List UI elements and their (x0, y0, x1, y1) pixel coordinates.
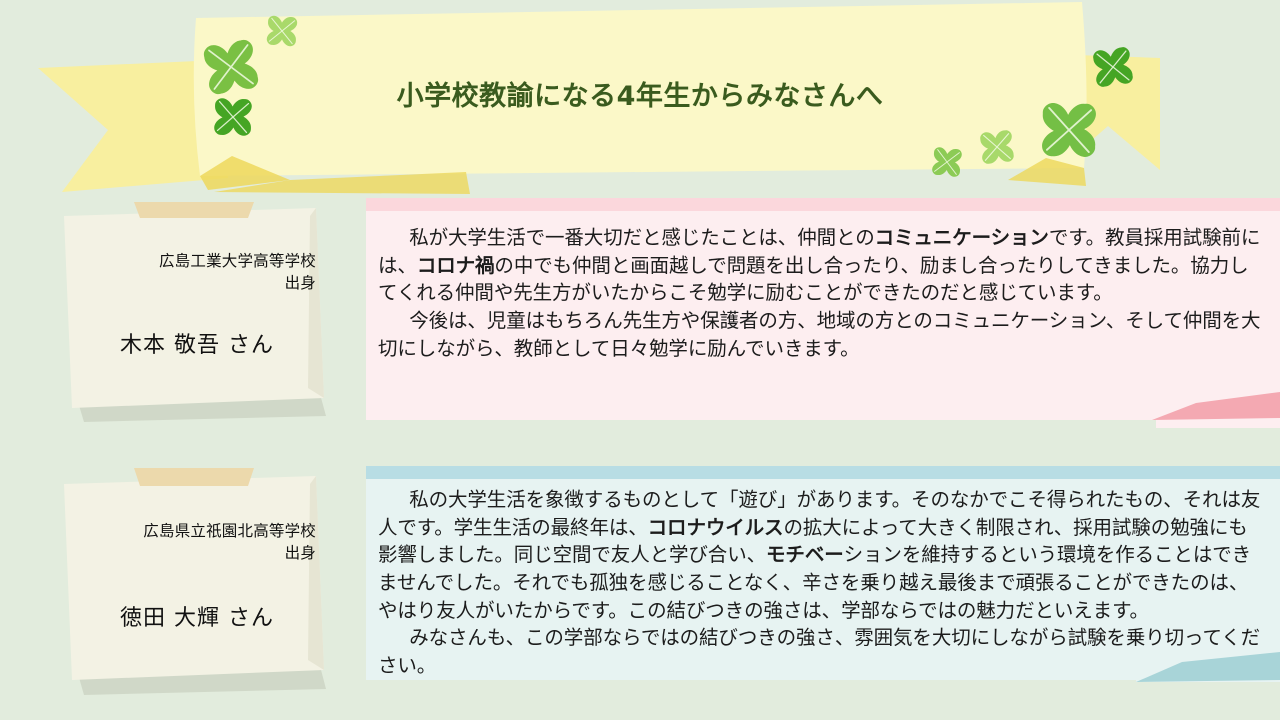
body-text: 今後は、児童はもちろん先生方や保護者の方、地域の方とのコミュニケーション、そして… (378, 309, 1260, 360)
school-name-line-1: 広島工業大学高等学校 (78, 250, 316, 272)
note-paper-curl-2 (308, 476, 324, 670)
four-leaf-clover-icon (1025, 86, 1113, 174)
clover-glyph (970, 120, 1023, 173)
clover-glyph (202, 86, 264, 148)
sticky-note-shape-1 (58, 202, 334, 427)
panel-header-bar-1 (366, 198, 1280, 211)
emphasized-text: コロナ禍 (417, 254, 495, 277)
body-text: みなさんも、この学部ならではの結びつきの強さ、雰囲気を大切にしながら試験を乗り切… (378, 626, 1260, 677)
clover-glyph (922, 137, 972, 187)
sticky-note-shape-2 (58, 468, 334, 700)
testimonial-text-2: 私の大学生活を象徴するものとして「遊び」があります。そのなかでこそ得られたもの、… (378, 486, 1266, 680)
note-tape-1 (134, 202, 254, 218)
student-school-1: 広島工業大学高等学校 出身 (78, 250, 316, 295)
emphasized-text: コミュニケーション (875, 226, 1049, 249)
emphasized-text: モチベー (766, 543, 844, 566)
testimonial-paragraph: 私の大学生活を象徴するものとして「遊び」があります。そのなかでこそ得られたもの、… (378, 486, 1266, 624)
body-text: 私が大学生活で一番大切だと感じたことは、仲間との (409, 226, 874, 249)
student-card-1: 広島工業大学高等学校 出身 木本 敬吾 さん (58, 202, 334, 427)
school-name-line-1: 広島県立祇園北高等学校 (78, 520, 316, 542)
four-leaf-clover-icon (257, 6, 308, 57)
testimonial-paragraph: 私が大学生活で一番大切だと感じたことは、仲間とのコミュニケーションです。教員採用… (378, 224, 1266, 307)
emphasized-text: コロナウイルス (648, 516, 784, 539)
clover-glyph (1025, 86, 1113, 174)
four-leaf-clover-icon (202, 86, 264, 148)
testimonial-paragraph: みなさんも、この学部ならではの結びつきの強さ、雰囲気を大切にしながら試験を乗り切… (378, 624, 1266, 679)
note-tape-2 (134, 468, 254, 486)
testimonial-text-1: 私が大学生活で一番大切だと感じたことは、仲間とのコミュニケーションです。教員採用… (378, 224, 1266, 362)
school-name-line-2: 出身 (78, 542, 316, 564)
panel-bottom-cut-2 (366, 680, 1136, 700)
student-name-1: 木本 敬吾 さん (78, 327, 316, 359)
student-name-2: 徳田 大輝 さん (78, 600, 316, 632)
four-leaf-clover-icon (970, 120, 1023, 173)
testimonial-panel-2: 私の大学生活を象徴するものとして「遊び」があります。そのなかでこそ得られたもの、… (366, 466, 1280, 700)
clover-glyph (257, 6, 308, 57)
four-leaf-clover-icon (922, 137, 972, 187)
student-school-2: 広島県立祇園北高等学校 出身 (78, 520, 316, 565)
note-paper-2 (64, 476, 324, 680)
panel-bottom-cut-2b (1136, 682, 1280, 700)
panel-header-bar-2 (366, 466, 1280, 479)
testimonial-panel-1: 私が大学生活で一番大切だと感じたことは、仲間とのコミュニケーションです。教員採用… (366, 198, 1280, 428)
note-paper-curl-1 (308, 208, 324, 398)
student-card-2: 広島県立祇園北高等学校 出身 徳田 大輝 さん (58, 468, 334, 700)
note-paper-1 (64, 208, 324, 408)
school-name-line-2: 出身 (78, 272, 316, 294)
testimonial-paragraph: 今後は、児童はもちろん先生方や保護者の方、地域の方とのコミュニケーション、そして… (378, 307, 1266, 362)
body-text: の中でも仲間と画面越しで問題を出し合ったり、励まし合ったりしてきました。協力して… (378, 254, 1249, 305)
panel-bottom-cut-1 (366, 420, 1156, 428)
